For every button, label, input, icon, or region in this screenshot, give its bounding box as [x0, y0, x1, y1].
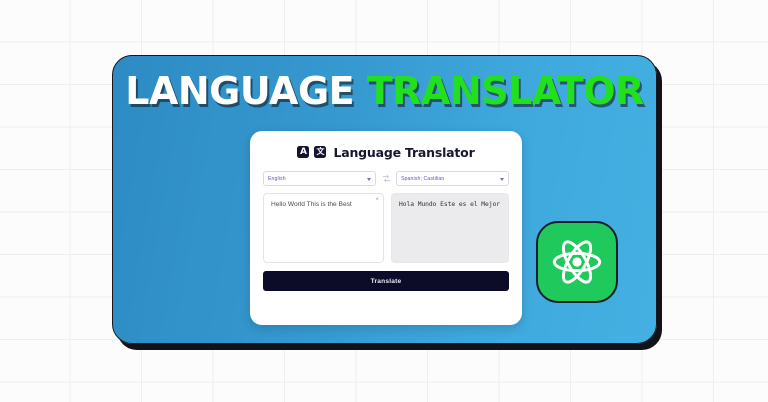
cjk-character-icon: 文: [314, 146, 326, 158]
source-text-input[interactable]: Hello World This is the Best ×: [263, 193, 384, 263]
react-atom-icon: [550, 235, 604, 289]
page-title-part-language: LANGUAGE: [125, 69, 354, 113]
swap-languages-icon[interactable]: [381, 173, 391, 185]
translate-button[interactable]: Translate: [263, 271, 509, 291]
text-panels-row: Hello World This is the Best × Hola Mund…: [263, 193, 509, 263]
chevron-down-icon: [500, 178, 504, 181]
source-language-select[interactable]: English: [263, 171, 376, 186]
source-text-value: Hello World This is the Best: [271, 200, 373, 210]
letter-a-icon: A: [297, 146, 309, 158]
clear-text-icon[interactable]: ×: [375, 197, 379, 203]
language-selector-row: English Spanish; Castilian: [263, 171, 509, 186]
page-title: LANGUAGE TRANSLATOR: [113, 72, 656, 110]
target-language-value: Spanish; Castilian: [401, 176, 444, 182]
app-header: A 文 Language Translator: [263, 142, 509, 162]
canvas: LANGUAGE TRANSLATOR A 文 Language Transla…: [0, 0, 768, 402]
page-title-part-translator: TRANSLATOR: [367, 69, 644, 113]
translator-app-card: A 文 Language Translator English Spanish;…: [250, 131, 522, 325]
target-language-select[interactable]: Spanish; Castilian: [396, 171, 509, 186]
translated-text-output: Hola Mundo Este es el Mejor: [391, 193, 509, 263]
app-title: Language Translator: [333, 145, 474, 160]
source-language-value: English: [268, 176, 286, 182]
translated-text-value: Hola Mundo Este es el Mejor: [399, 200, 501, 210]
react-logo-badge: [536, 221, 618, 303]
chevron-down-icon: [367, 178, 371, 181]
